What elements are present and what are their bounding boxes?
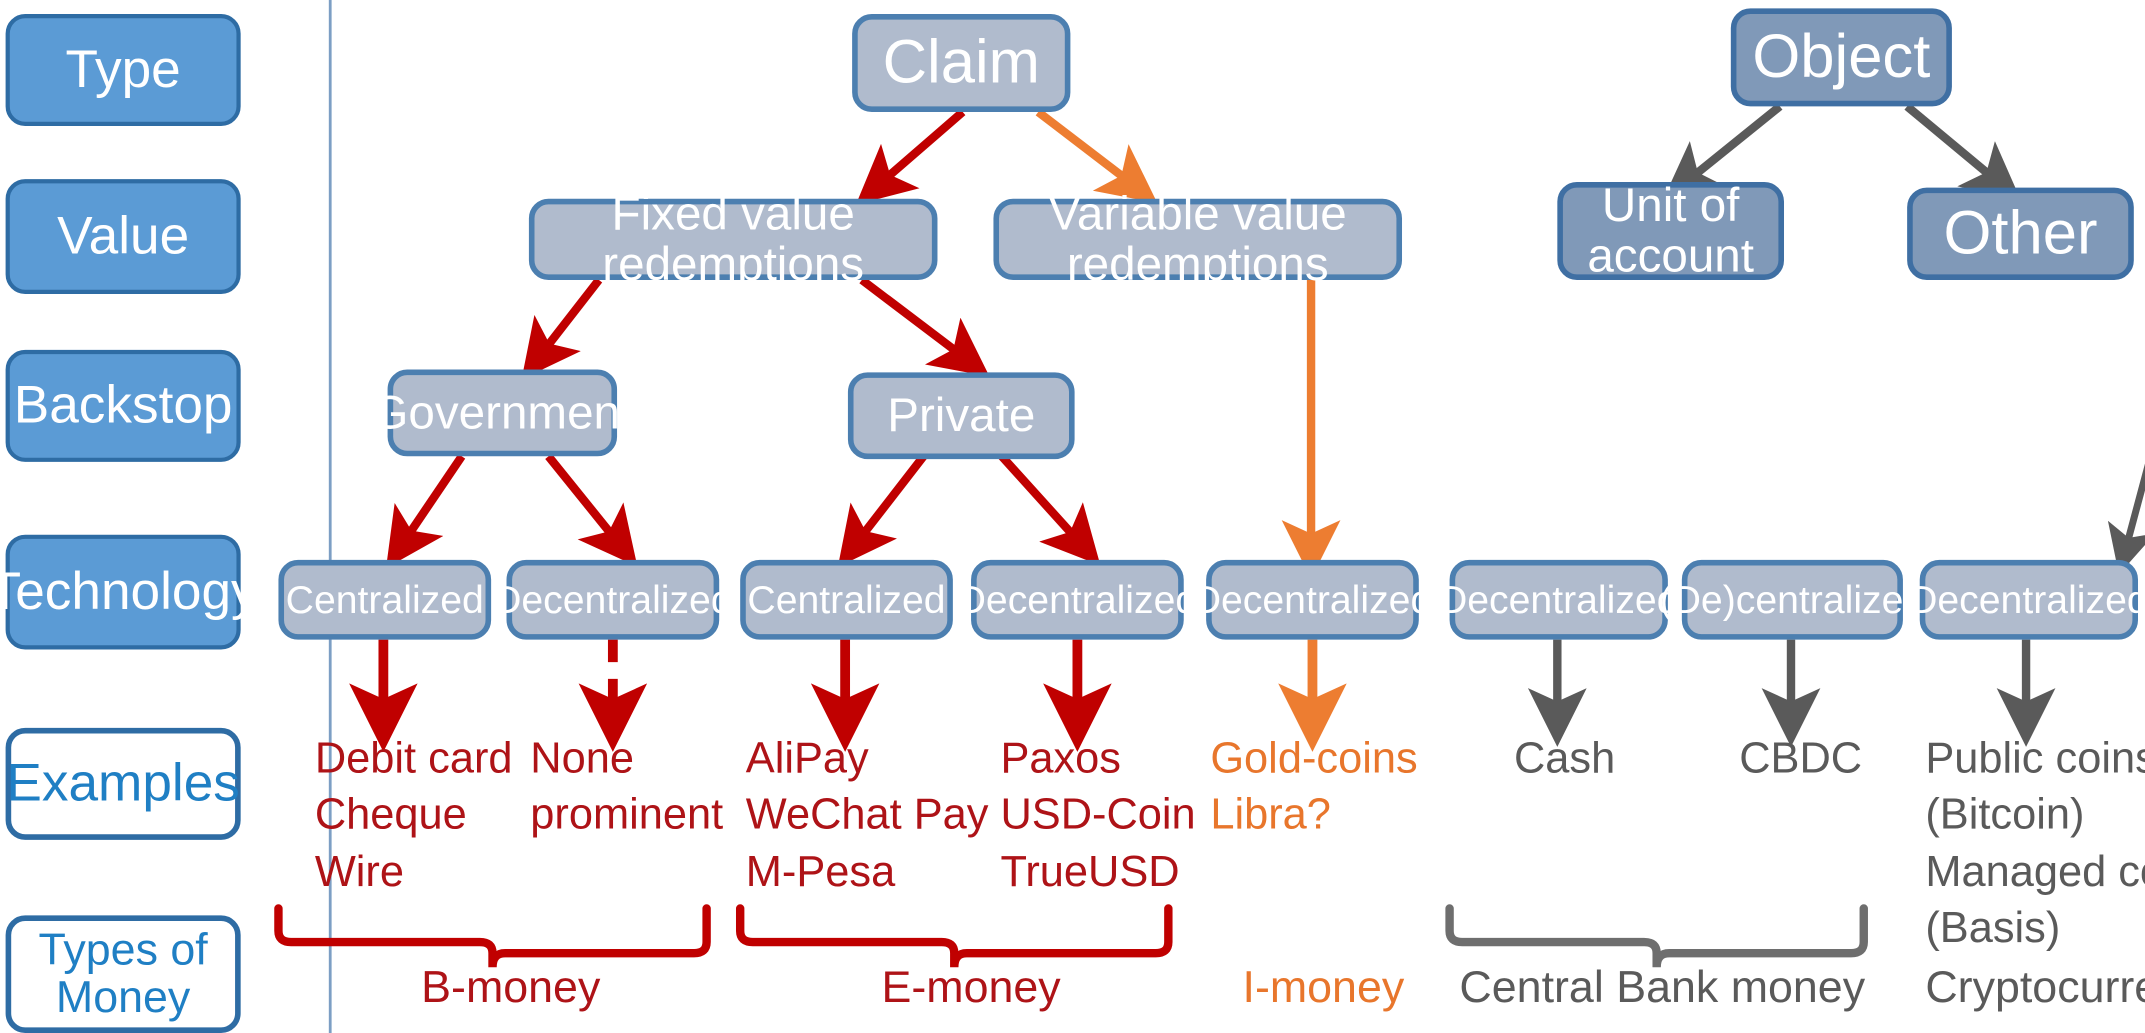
arrow-private-to-centralized [856,456,923,543]
money-type-e-money: E-money [882,959,1162,1017]
node-tech-uoa-decentralized-2-label: (De)centralized [1660,579,1926,621]
examples-cash: Cash [1514,731,1710,787]
row-label-technology-text: Technology [0,564,258,620]
node-tech-priv-decentralized-label: Decentralized [958,579,1198,621]
examples-debit-card: Debit card Cheque Wire [315,731,567,900]
node-private[interactable]: Private [848,372,1075,459]
node-government[interactable]: Government [388,370,617,457]
arrow-object-to-other [1907,106,1998,182]
row-label-technology[interactable]: Technology [6,535,241,650]
node-tech-uoa-decentralized[interactable]: Decentralized [1450,560,1668,640]
row-label-value-text: Value [57,208,189,264]
row-label-examples-text: Examples [6,756,239,812]
node-tech-other-decentralized-label: Decentralized [1909,579,2145,621]
row-label-type[interactable]: Type [6,14,241,126]
node-fixed-value-redemptions-label: Fixed value redemptions [535,189,932,290]
node-tech-variable-decentralized[interactable]: Decentralized [1206,560,1419,640]
arrow-fixed-to-government [540,280,599,356]
arrow-government-to-decentralized [548,456,618,543]
arrow-object-to-unit-of-account [1686,106,1780,182]
arrow-fixed-to-private [862,280,966,358]
node-object-label: Object [1752,25,1930,90]
node-fixed-value-redemptions[interactable]: Fixed value redemptions [529,199,938,280]
arrow-private-to-decentralized [1002,456,1080,543]
node-tech-priv-decentralized[interactable]: Decentralized [971,560,1184,640]
node-tech-uoa-decentralized-label: Decentralized [1439,579,1679,621]
node-claim-label: Claim [883,30,1040,95]
node-object[interactable]: Object [1731,8,1952,106]
node-government-label: Government [371,388,633,438]
row-label-types-of-money[interactable]: Types of Money [6,915,241,1033]
node-other-label: Other [1943,201,2097,266]
row-label-backstop-text: Backstop [14,378,233,434]
node-tech-gov-decentralized-label: Decentralized [493,579,733,621]
money-type-cryptocurrency: Cryptocurrency [1925,959,2145,1017]
examples-gold-coins: Gold-coins Libra? [1210,731,1462,844]
arrow-claim-to-fixed [879,112,963,185]
node-variable-value-redemptions[interactable]: Variable value redemptions [993,199,1402,280]
money-type-b-money: B-money [421,959,701,1017]
money-type-central-bank-money: Central Bank money [1459,959,1865,1017]
node-tech-gov-centralized[interactable]: Centralized [278,560,491,640]
examples-public-coins: Public coins (Bitcoin) Managed coins (Ba… [1925,731,2145,957]
arrow-claim-to-variable [1038,112,1133,185]
examples-cbdc: CBDC [1739,731,1935,787]
node-variable-value-redemptions-label: Variable value redemptions [999,189,1396,290]
node-tech-gov-centralized-label: Centralized [286,579,484,621]
node-unit-of-account-label: Unit of account [1587,181,1754,282]
node-tech-priv-centralized-label: Centralized [747,579,945,621]
node-tech-uoa-decentralized-2[interactable]: (De)centralized [1682,560,1903,640]
node-tech-priv-centralized[interactable]: Centralized [740,560,953,640]
node-claim[interactable]: Claim [852,14,1070,112]
node-unit-of-account[interactable]: Unit of account [1557,182,1784,280]
row-label-value[interactable]: Value [6,179,241,294]
arrow-uoa-to-decentralized [2125,279,2145,551]
examples-alipay: AliPay WeChat Pay M-Pesa [746,731,1026,900]
row-label-types-of-money-text: Types of Money [39,927,208,1022]
node-tech-other-decentralized[interactable]: Decentralized [1920,560,2138,640]
node-other[interactable]: Other [1907,188,2134,280]
row-label-backstop[interactable]: Backstop [6,350,241,462]
node-tech-variable-decentralized-label: Decentralized [1193,579,1433,621]
arrow-government-to-centralized [403,456,462,543]
node-tech-gov-decentralized[interactable]: Decentralized [507,560,720,640]
row-label-examples[interactable]: Examples [6,728,241,840]
row-label-type-text: Type [65,42,180,98]
money-tree-diagram: Type Value Backstop Technology Examples … [0,0,2145,1033]
node-private-label: Private [887,391,1035,441]
